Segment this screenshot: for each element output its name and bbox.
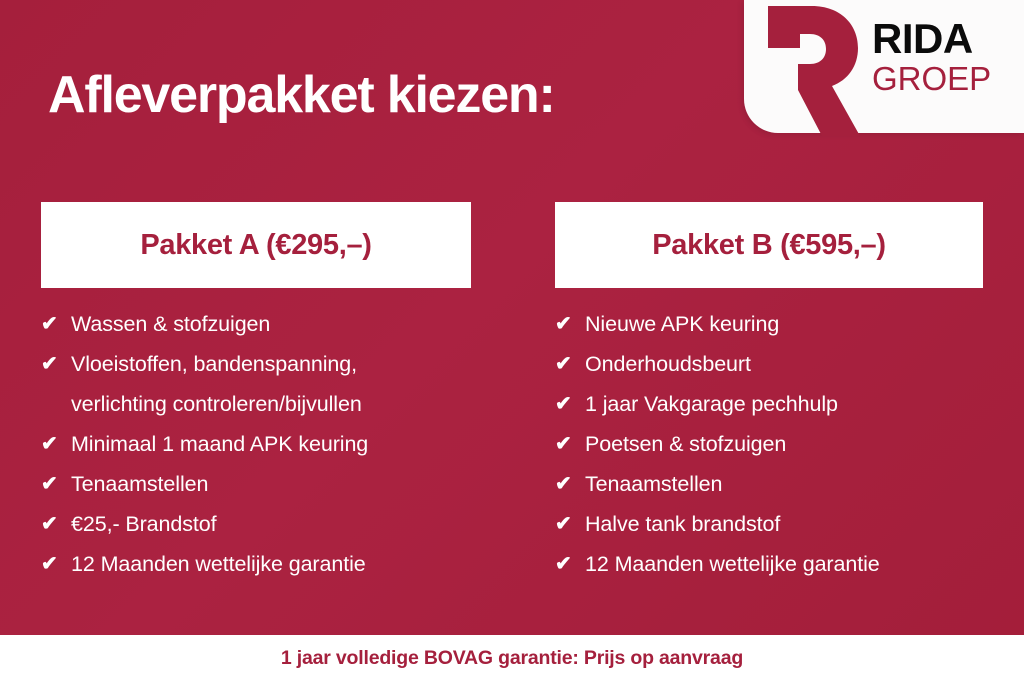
list-item: ✔ 1 jaar Vakgarage pechhulp: [555, 384, 983, 424]
list-item: ✔ Tenaamstellen: [555, 464, 983, 504]
check-icon: ✔: [41, 344, 71, 384]
list-item: ✔ Minimaal 1 maand APK keuring: [41, 424, 471, 464]
list-item: ✔ Nieuwe APK keuring: [555, 304, 983, 344]
list-item: ✔ 12 Maanden wettelijke garantie: [41, 544, 471, 584]
check-icon: ✔: [555, 344, 585, 384]
package-b-title: Pakket B (€595,–): [652, 229, 886, 262]
list-item-label: Tenaamstellen: [71, 464, 471, 504]
package-a-feature-list: ✔ Wassen & stofzuigen ✔ Vloeistoffen, ba…: [41, 304, 471, 584]
package-b-feature-list: ✔ Nieuwe APK keuring ✔ Onderhoudsbeurt ✔…: [555, 304, 983, 584]
list-item: ✔ 12 Maanden wettelijke garantie: [555, 544, 983, 584]
check-icon: ✔: [41, 504, 71, 544]
list-item-label: Vloeistoffen, bandenspanning, verlichtin…: [71, 344, 471, 424]
footer-banner: 1 jaar volledige BOVAG garantie: Prijs o…: [0, 635, 1024, 682]
list-item-label: Tenaamstellen: [585, 464, 983, 504]
list-item-label: 12 Maanden wettelijke garantie: [585, 544, 983, 584]
package-card-b[interactable]: Pakket B (€595,–) ✔ Nieuwe APK keuring ✔…: [555, 202, 983, 584]
list-item-label: Onderhoudsbeurt: [585, 344, 983, 384]
package-card-a[interactable]: Pakket A (€295,–) ✔ Wassen & stofzuigen …: [41, 202, 471, 584]
brand-logo-panel: RIDA GROEP: [744, 0, 1024, 133]
brand-wordmark: RIDA GROEP: [872, 18, 1020, 97]
brand-subtitle: GROEP: [872, 62, 1020, 97]
package-a-title: Pakket A (€295,–): [140, 229, 371, 262]
promo-poster: Afleverpakket kiezen: RIDA GROEP Pakket …: [0, 0, 1024, 682]
rida-r-mark-icon: [756, 4, 862, 138]
list-item-label: Nieuwe APK keuring: [585, 304, 983, 344]
list-item-label: Halve tank brandstof: [585, 504, 983, 544]
check-icon: ✔: [555, 384, 585, 424]
package-a-header: Pakket A (€295,–): [41, 202, 471, 288]
check-icon: ✔: [41, 544, 71, 584]
check-icon: ✔: [41, 304, 71, 344]
list-item-label: Minimaal 1 maand APK keuring: [71, 424, 471, 464]
check-icon: ✔: [555, 304, 585, 344]
list-item: ✔ €25,- Brandstof: [41, 504, 471, 544]
list-item: ✔ Onderhoudsbeurt: [555, 344, 983, 384]
list-item: ✔ Tenaamstellen: [41, 464, 471, 504]
footer-text: 1 jaar volledige BOVAG garantie: Prijs o…: [281, 647, 743, 670]
check-icon: ✔: [555, 464, 585, 504]
list-item: ✔ Wassen & stofzuigen: [41, 304, 471, 344]
check-icon: ✔: [555, 424, 585, 464]
page-title: Afleverpakket kiezen:: [48, 67, 555, 124]
check-icon: ✔: [41, 424, 71, 464]
list-item-label: €25,- Brandstof: [71, 504, 471, 544]
list-item-label: 1 jaar Vakgarage pechhulp: [585, 384, 983, 424]
brand-name: RIDA: [872, 18, 1020, 60]
list-item-label: 12 Maanden wettelijke garantie: [71, 544, 471, 584]
list-item-label: Poetsen & stofzuigen: [585, 424, 983, 464]
list-item: ✔ Halve tank brandstof: [555, 504, 983, 544]
package-b-header: Pakket B (€595,–): [555, 202, 983, 288]
list-item: ✔ Poetsen & stofzuigen: [555, 424, 983, 464]
check-icon: ✔: [555, 544, 585, 584]
list-item: ✔ Vloeistoffen, bandenspanning, verlicht…: [41, 344, 471, 424]
check-icon: ✔: [41, 464, 71, 504]
check-icon: ✔: [555, 504, 585, 544]
list-item-label: Wassen & stofzuigen: [71, 304, 471, 344]
